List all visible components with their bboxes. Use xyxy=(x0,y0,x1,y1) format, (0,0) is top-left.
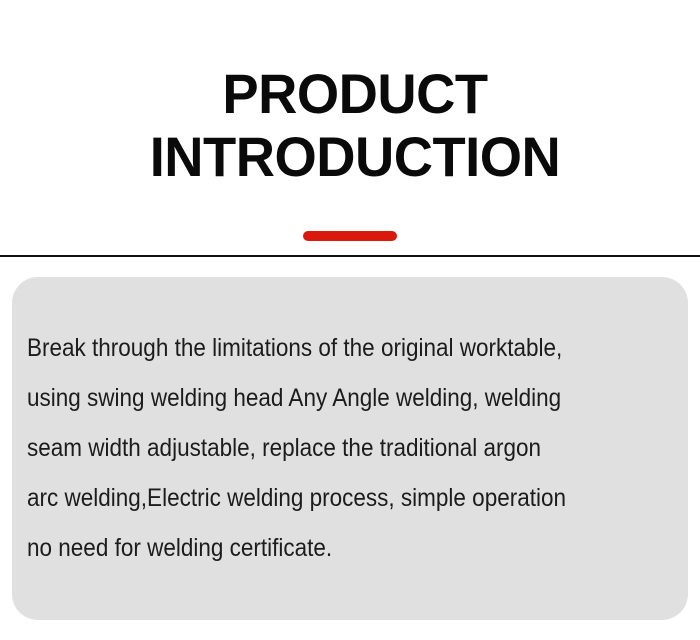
horizontal-rule xyxy=(0,255,700,257)
description-line: using swing welding head Any Angle weldi… xyxy=(27,373,621,423)
description-line: arc welding,Electric welding process, si… xyxy=(27,473,621,523)
page-title-line-1: PRODUCT xyxy=(20,62,689,125)
description-panel: Break through the limitations of the ori… xyxy=(12,277,688,620)
red-pill-divider xyxy=(303,231,397,241)
description-line: seam width adjustable, replace the tradi… xyxy=(27,423,621,473)
description-text: Break through the limitations of the ori… xyxy=(27,323,687,573)
page-title-line-2: INTRODUCTION xyxy=(20,125,689,188)
description-line: no need for welding certificate. xyxy=(27,523,621,573)
header-section: PRODUCT INTRODUCTION xyxy=(0,0,700,257)
page-title: PRODUCT INTRODUCTION xyxy=(0,62,700,188)
description-line: Break through the limitations of the ori… xyxy=(27,323,621,373)
